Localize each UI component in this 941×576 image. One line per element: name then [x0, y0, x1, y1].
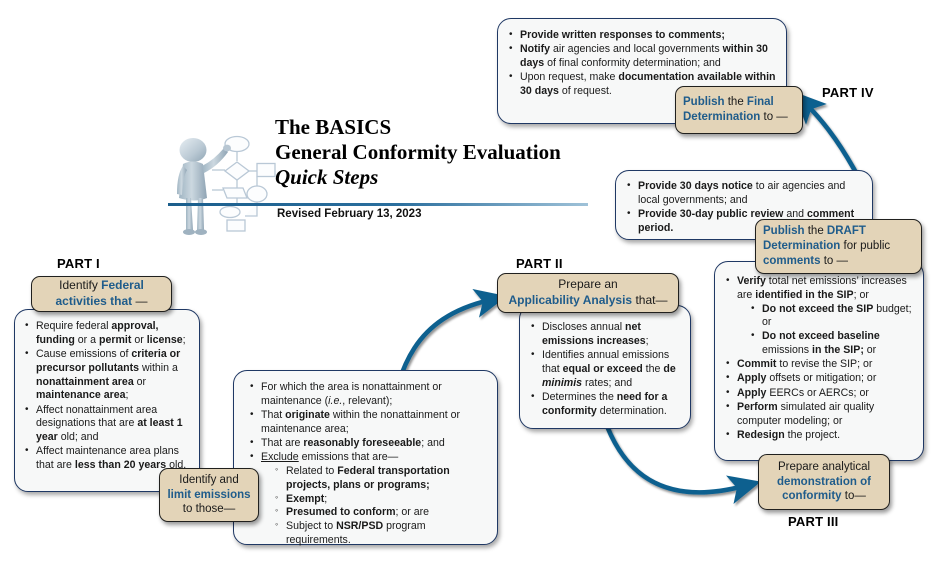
- part1-header-seg3: —: [132, 294, 147, 308]
- part1-header-seg1: Identify: [59, 278, 101, 292]
- sub-list: Related to Federal transportation projec…: [261, 465, 487, 548]
- sub-list-item: Do not exceed baseline emissions in the …: [751, 330, 915, 358]
- sub-list: Do not exceed the SIP budget; orDo not e…: [737, 303, 915, 358]
- list-item: Provide written responses to comments;: [509, 29, 777, 43]
- limit-emissions-bullet-list: For which the area is nonattainment or m…: [250, 381, 487, 548]
- list-item: Exclude emissions that are—Related to Fe…: [250, 451, 487, 547]
- part1-header-box[interactable]: Identify Federal activities that —: [31, 276, 172, 312]
- final-seg1: Publish: [683, 96, 728, 108]
- final-determination-header-box[interactable]: Publish the FinalDetermination to —: [675, 86, 803, 134]
- list-item: Perform simulated air quality computer m…: [726, 401, 915, 429]
- draft-seg2b: Determination: [763, 240, 840, 252]
- part2-header-seg2: Applicability Analysis: [509, 293, 633, 307]
- part2-header-seg1: Prepare an: [558, 277, 617, 291]
- revision-date: Revised February 13, 2023: [277, 208, 421, 220]
- page-title: The BASICS General Conformity Evaluation…: [275, 115, 605, 190]
- sub-list-item: Presumed to conform; or are: [275, 506, 487, 520]
- list-item: For which the area is nonattainment or m…: [250, 381, 487, 409]
- list-item: Identifies annual emissions that equal o…: [531, 349, 681, 390]
- list-item: Discloses annual net emissions increases…: [531, 321, 681, 349]
- limit-emissions-header-box[interactable]: Identify and limit emissions to those—: [159, 468, 259, 522]
- final-seg3: to —: [760, 111, 787, 123]
- part1-detail-box: Require federal approval, funding or a p…: [14, 309, 200, 492]
- part2-header-seg3: that—: [632, 293, 667, 307]
- sub-list-item: Subject to NSR/PSD program requirements.: [275, 520, 487, 548]
- draft-seg1: Publish: [763, 225, 808, 237]
- part-label-2: PART II: [516, 256, 563, 271]
- list-item: Redesign the project.: [726, 429, 915, 443]
- list-item: Determines the need for a conformity det…: [531, 391, 681, 419]
- final-seg2b: Determination: [683, 111, 760, 123]
- final-seg2: Final: [747, 96, 774, 108]
- part3-header-seg1: Prepare analytical: [778, 461, 870, 473]
- limit-seg2: limit emissions: [167, 489, 250, 501]
- draft-seg5: to —: [821, 255, 848, 267]
- list-item: Apply EERCs or AERCs; or: [726, 387, 915, 401]
- list-item: That originate within the nonattainment …: [250, 409, 487, 437]
- draft-seg4: comments: [763, 255, 821, 267]
- title-line-2: General Conformity Evaluation: [275, 140, 605, 165]
- part2-detail-box: Discloses annual net emissions increases…: [519, 305, 691, 429]
- diagram-canvas: The BASICS General Conformity Evaluation…: [0, 0, 941, 576]
- final-seg2-lead: the: [728, 96, 747, 108]
- arrow-draft-to-part4: [806, 104, 860, 180]
- list-item: Affect nonattainment area designations t…: [25, 404, 190, 445]
- part-label-1: PART I: [57, 256, 100, 271]
- limit-seg1: Identify and: [179, 474, 238, 486]
- draft-seg2: DRAFT: [827, 225, 866, 237]
- list-item: Verify total net emissions’ increases ar…: [726, 275, 915, 358]
- part1-bullet-list: Require federal approval, funding or a p…: [25, 320, 190, 473]
- limit-seg3: to those—: [183, 503, 235, 515]
- title-divider: [168, 203, 588, 206]
- part-label-4: PART IV: [822, 85, 874, 100]
- draft-seg2-lead: the: [808, 225, 827, 237]
- list-item: That are reasonably foreseeable; and: [250, 437, 487, 451]
- list-item: Apply offsets or mitigation; or: [726, 372, 915, 386]
- list-item: Notify air agencies and local government…: [509, 43, 777, 71]
- part-label-3: PART III: [788, 514, 838, 529]
- list-item: Provide 30 days notice to air agencies a…: [627, 180, 863, 208]
- draft-seg3: for public: [840, 240, 890, 252]
- sub-list-item: Do not exceed the SIP budget; or: [751, 303, 915, 331]
- part3-bullet-list: Verify total net emissions’ increases ar…: [726, 275, 915, 443]
- list-item: Cause emissions of criteria or precursor…: [25, 348, 190, 403]
- sub-list-item: Related to Federal transportation projec…: [275, 465, 487, 493]
- part2-bullet-list: Discloses annual net emissions increases…: [531, 321, 681, 418]
- title-line-3: Quick Steps: [275, 165, 605, 191]
- part3-header-seg3: to—: [842, 490, 866, 502]
- list-item: Commit to revise the SIP; or: [726, 358, 915, 372]
- limit-emissions-detail-box: For which the area is nonattainment or m…: [233, 370, 498, 545]
- list-item: Require federal approval, funding or a p…: [25, 320, 190, 348]
- presenter-figure-icon: [165, 128, 277, 240]
- part2-header-box[interactable]: Prepare an Applicability Analysis that—: [497, 273, 679, 313]
- part3-header-box[interactable]: Prepare analytical demonstration of conf…: [758, 454, 890, 510]
- part3-detail-box: Verify total net emissions’ increases ar…: [714, 261, 924, 461]
- draft-determination-header-box[interactable]: Publish the DRAFTDetermination for publi…: [755, 219, 922, 274]
- sub-list-item: Exempt;: [275, 493, 487, 507]
